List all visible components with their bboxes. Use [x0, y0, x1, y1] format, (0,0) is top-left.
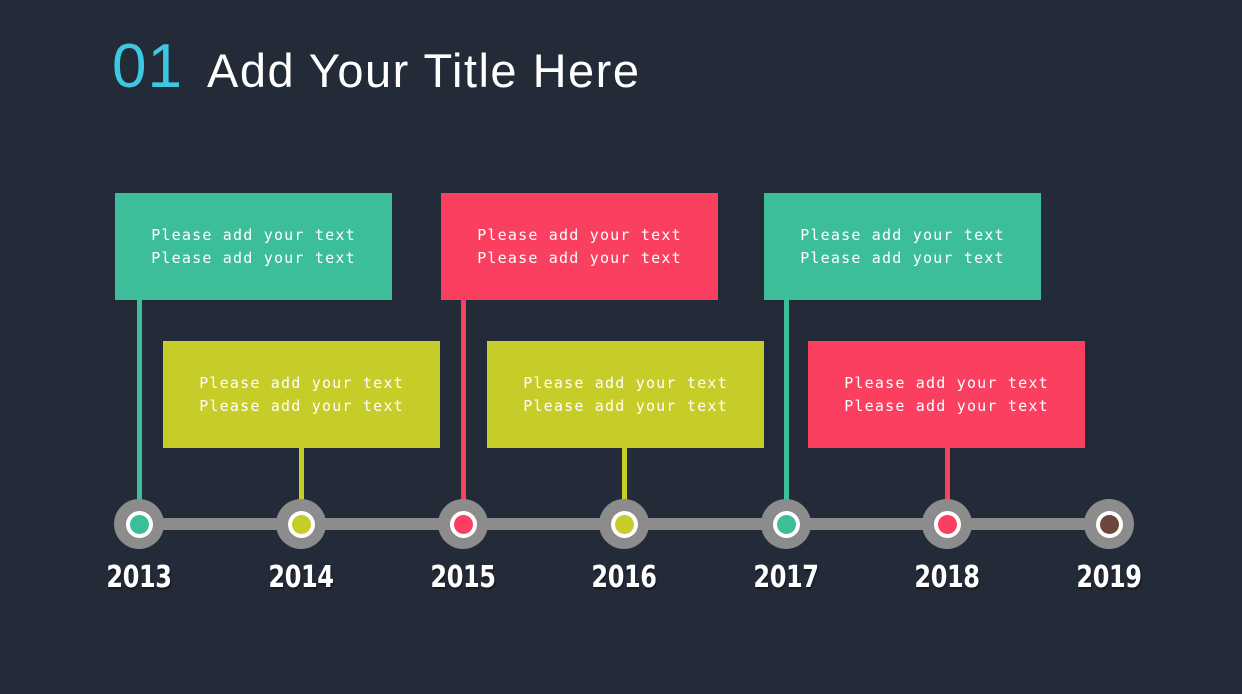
card-2015[interactable]: Please add your textPlease add your text	[441, 193, 718, 300]
card-2018[interactable]: Please add your textPlease add your text	[808, 341, 1085, 448]
card-text-line: Please add your text	[151, 247, 356, 270]
card-2014[interactable]: Please add your textPlease add your text	[163, 341, 440, 448]
card-text-line: Please add your text	[800, 247, 1005, 270]
card-text-line: Please add your text	[199, 372, 404, 395]
card-2016[interactable]: Please add your textPlease add your text	[487, 341, 764, 448]
node-ring	[934, 511, 961, 538]
timeline-node-2015[interactable]	[438, 499, 488, 549]
card-text-line: Please add your text	[477, 247, 682, 270]
node-dot	[130, 515, 149, 534]
node-dot	[615, 515, 634, 534]
node-dot	[777, 515, 796, 534]
card-text-line: Please add your text	[800, 224, 1005, 247]
card-text-line: Please add your text	[844, 372, 1049, 395]
title-number: 01	[112, 36, 183, 98]
card-text-line: Please add your text	[844, 395, 1049, 418]
timeline-year-label: 2018	[899, 560, 995, 595]
timeline-year-label: 2015	[415, 560, 511, 595]
node-ring	[288, 511, 315, 538]
timeline-node-2017[interactable]	[761, 499, 811, 549]
node-dot	[454, 515, 473, 534]
title-text: Add Your Title Here	[207, 47, 641, 94]
card-text-line: Please add your text	[151, 224, 356, 247]
card-2017[interactable]: Please add your textPlease add your text	[764, 193, 1041, 300]
node-dot	[292, 515, 311, 534]
node-ring	[450, 511, 477, 538]
timeline-year-label: 2014	[253, 560, 349, 595]
node-ring	[1096, 511, 1123, 538]
node-ring	[773, 511, 800, 538]
card-stem-2017	[784, 300, 789, 520]
node-ring	[126, 511, 153, 538]
card-text-line: Please add your text	[199, 395, 404, 418]
card-text-line: Please add your text	[477, 224, 682, 247]
timeline-node-2013[interactable]	[114, 499, 164, 549]
timeline-year-label: 2016	[576, 560, 672, 595]
node-dot	[938, 515, 957, 534]
node-ring	[611, 511, 638, 538]
timeline-year-label: 2017	[738, 560, 834, 595]
timeline-node-2019[interactable]	[1084, 499, 1134, 549]
timeline-node-2018[interactable]	[922, 499, 972, 549]
page-title: 01 Add Your Title Here	[112, 36, 640, 98]
card-text-line: Please add your text	[523, 372, 728, 395]
node-dot	[1100, 515, 1119, 534]
card-text-line: Please add your text	[523, 395, 728, 418]
timeline-year-label: 2019	[1061, 560, 1157, 595]
card-stem-2015	[461, 300, 466, 520]
timeline-year-label: 2013	[91, 560, 187, 595]
timeline-node-2016[interactable]	[599, 499, 649, 549]
timeline-node-2014[interactable]	[276, 499, 326, 549]
card-stem-2013	[137, 300, 142, 520]
card-2013[interactable]: Please add your textPlease add your text	[115, 193, 392, 300]
slide-canvas: 01 Add Your Title Here Please add your t…	[0, 0, 1242, 694]
